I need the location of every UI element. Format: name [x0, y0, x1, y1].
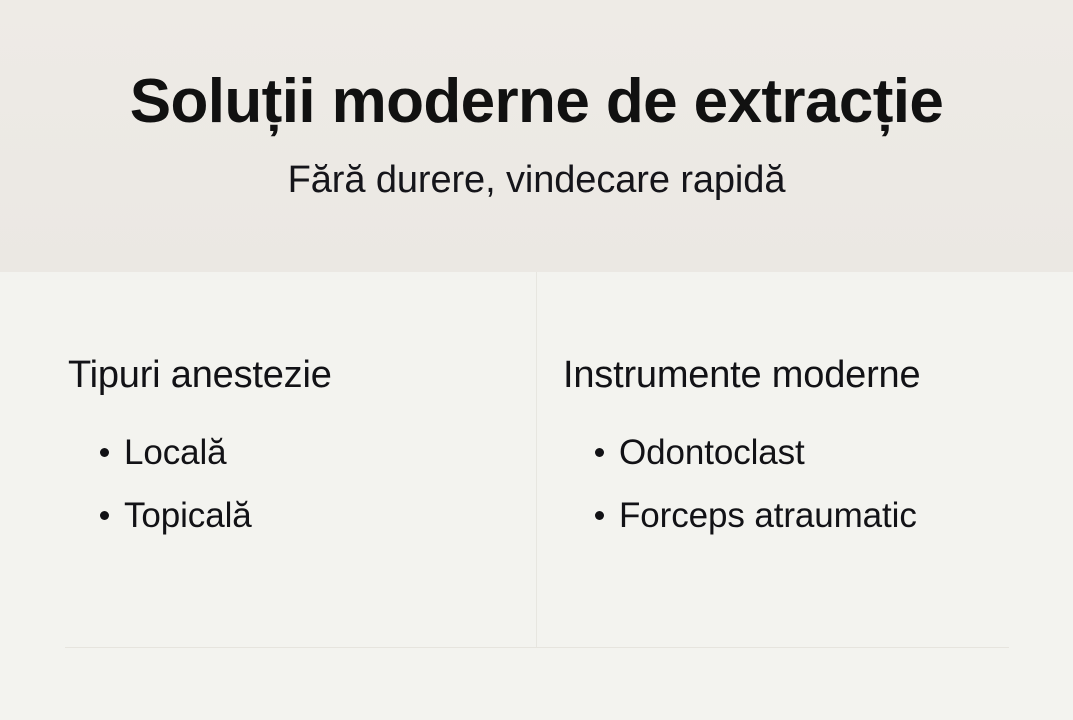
column-anesthesia-types: Tipuri anestezie Locală Topicală — [0, 272, 536, 647]
page-title: Soluții moderne de extracție — [0, 66, 1073, 138]
column-heading-left: Tipuri anestezie — [68, 354, 506, 398]
slide-header-band: Soluții moderne de extracție Fără durere… — [0, 0, 1073, 272]
bullet-dot-icon — [595, 448, 604, 457]
bullet-dot-icon — [100, 511, 109, 520]
slide-body: Tipuri anestezie Locală Topicală Instrum… — [0, 272, 1073, 720]
column-modern-instruments: Instrumente moderne Odontoclast Forceps … — [536, 272, 1073, 647]
list-item: Odontoclast — [563, 432, 1043, 474]
list-item-label: Locală — [124, 432, 227, 474]
column-heading-right: Instrumente moderne — [563, 354, 1043, 398]
bottom-rule — [65, 647, 1009, 648]
bullet-list-right: Odontoclast Forceps atraumatic — [563, 432, 1043, 537]
list-item: Forceps atraumatic — [563, 495, 1043, 537]
bullet-dot-icon — [595, 511, 604, 520]
list-item-label: Odontoclast — [619, 432, 805, 474]
slide-root: Soluții moderne de extracție Fără durere… — [0, 0, 1073, 720]
page-subtitle: Fără durere, vindecare rapidă — [0, 156, 1073, 205]
bullet-dot-icon — [100, 448, 109, 457]
list-item: Topicală — [68, 495, 506, 537]
list-item: Locală — [68, 432, 506, 474]
bullet-list-left: Locală Topicală — [68, 432, 506, 537]
columns-container: Tipuri anestezie Locală Topicală Instrum… — [0, 272, 1073, 647]
list-item-label: Forceps atraumatic — [619, 495, 917, 537]
list-item-label: Topicală — [124, 495, 252, 537]
